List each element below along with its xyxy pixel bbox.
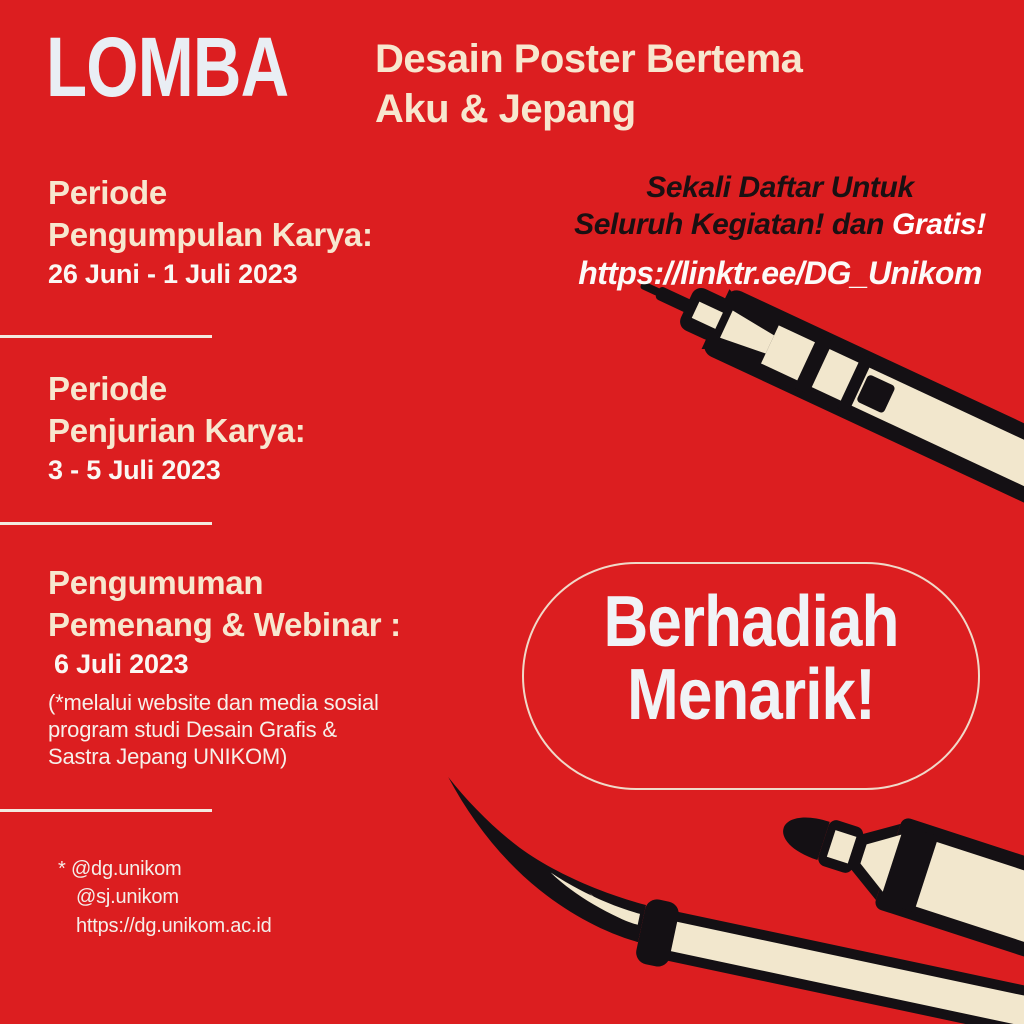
schedule-note-line-3: Sastra Jepang UNIKOM): [48, 743, 401, 770]
marker-pen-icon: [769, 782, 1024, 1014]
schedule-title-line-1: Periode: [48, 172, 373, 214]
schedule-note-line-2: program studi Desain Grafis &: [48, 716, 401, 743]
schedule-note: (*melalui website dan media sosial progr…: [48, 689, 401, 771]
subtitle-line-1: Desain Poster Bertema: [375, 37, 802, 81]
registration-promo: Sekali Daftar Untuk Seluruh Kegiatan! da…: [560, 170, 1000, 292]
promo-line-1: Sekali Daftar Untuk: [560, 170, 1000, 207]
subtitle-line-2: Aku & Jepang: [375, 84, 802, 134]
handle-dg-unikom: * @dg.unikom: [58, 855, 272, 883]
schedule-title-line-1: Pengumuman: [48, 562, 401, 604]
technical-pen-icon: [626, 252, 1024, 546]
schedule-title-line-2: Pemenang & Webinar :: [48, 604, 401, 646]
schedule-item-judging: Periode Penjurian Karya: 3 - 5 Juli 2023: [48, 368, 305, 488]
schedule-title-line-2: Pengumpulan Karya:: [48, 214, 373, 256]
promo-line-2: Seluruh Kegiatan! dan Gratis!: [560, 207, 1000, 244]
calligraphy-dip-pen-icon: [419, 777, 1024, 1024]
prize-badge-text: Berhadiah Menarik!: [522, 586, 980, 733]
handle-sj-unikom: @sj.unikom: [58, 883, 272, 911]
subtitle: Desain Poster Bertema Aku & Jepang: [375, 34, 802, 134]
section-divider: [0, 809, 212, 812]
promo-gratis-highlight: Gratis!: [892, 208, 986, 241]
section-divider: [0, 335, 212, 338]
section-divider: [0, 522, 212, 525]
social-handles: * @dg.unikom @sj.unikom https://dg.uniko…: [58, 855, 272, 940]
schedule-title-line-1: Periode: [48, 368, 305, 410]
schedule-date: 6 Juli 2023: [54, 647, 401, 682]
schedule-item-announcement: Pengumuman Pemenang & Webinar : 6 Juli 2…: [48, 562, 401, 771]
website-url: https://dg.unikom.ac.id: [58, 912, 272, 940]
schedule-title: Periode Pengumpulan Karya:: [48, 172, 373, 255]
schedule-item-submission: Periode Pengumpulan Karya: 26 Juni - 1 J…: [48, 172, 373, 292]
schedule-date: 3 - 5 Juli 2023: [48, 453, 305, 488]
poster-canvas: LOMBA Desain Poster Bertema Aku & Jepang…: [0, 0, 1024, 1024]
schedule-title-line-2: Penjurian Karya:: [48, 410, 305, 452]
schedule-title: Periode Penjurian Karya:: [48, 368, 305, 451]
promo-line-2-black: Seluruh Kegiatan! dan: [574, 208, 884, 241]
prize-line-2: Menarik!: [554, 659, 948, 732]
prize-line-1: Berhadiah: [554, 586, 948, 659]
registration-link[interactable]: https://linktr.ee/DG_Unikom: [560, 255, 1000, 292]
schedule-title: Pengumuman Pemenang & Webinar :: [48, 562, 401, 645]
schedule-date: 26 Juni - 1 Juli 2023: [48, 257, 373, 292]
poster-header: LOMBA Desain Poster Bertema Aku & Jepang: [46, 18, 802, 134]
schedule-note-line-1: (*melalui website dan media sosial: [48, 689, 401, 716]
page-title: LOMBA: [46, 28, 288, 108]
